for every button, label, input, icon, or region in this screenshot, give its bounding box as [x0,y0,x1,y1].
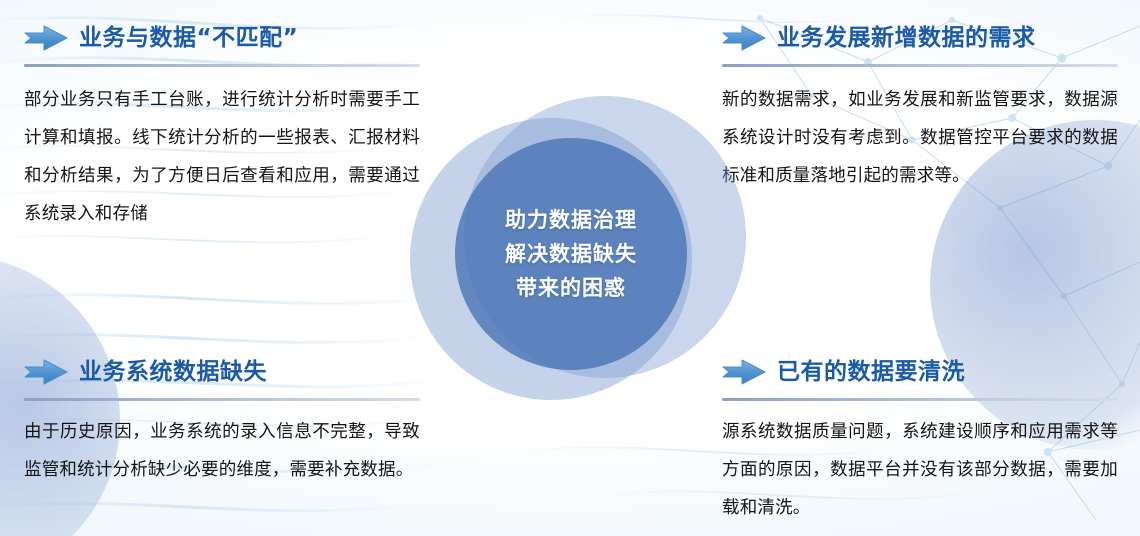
title-divider [24,398,420,401]
center-label: 助力数据治理 解决数据缺失 带来的困惑 [455,138,687,370]
content-block-bottom-left: 业务系统数据缺失 由于历史原因，业务系统的录入信息不完整，导致监管和统计分析缺少… [24,352,420,489]
center-line-1: 助力数据治理 [505,203,637,237]
block-body: 新的数据需求，如业务发展和新监管要求，数据源系统设计时没有考虑到。数据管控平台要… [722,81,1118,195]
center-graphic: 助力数据治理 解决数据缺失 带来的困惑 [410,90,730,410]
block-body: 部分业务只有手工台账，进行统计分析时需要手工计算和填报。线下统计分析的一些报表、… [24,81,420,233]
block-header: 已有的数据要清洗 [722,352,1118,392]
arrow-right-icon [24,25,68,51]
block-title: 业务发展新增数据的需求 [777,27,1036,50]
slide-canvas: 业务与数据“不匹配” 部分业务只有手工台账，进行统计分析时需要手工计算和填报。线… [0,0,1140,536]
block-title: 业务与数据“不匹配” [79,27,298,50]
title-divider [722,398,1118,401]
content-block-top-right: 业务发展新增数据的需求 新的数据需求，如业务发展和新监管要求，数据源系统设计时没… [722,18,1118,195]
arrow-right-icon [722,25,766,51]
center-line-2: 解决数据缺失 [505,237,637,271]
block-header: 业务发展新增数据的需求 [722,18,1118,58]
title-divider [722,64,1118,67]
center-line-3: 带来的困惑 [516,271,626,305]
block-header: 业务系统数据缺失 [24,352,420,392]
block-header: 业务与数据“不匹配” [24,18,420,58]
arrow-right-icon [24,359,68,385]
block-body: 源系统数据质量问题，系统建设顺序和应用需求等方面的原因，数据平台并没有该部分数据… [722,413,1118,527]
block-title: 业务系统数据缺失 [79,361,267,384]
block-title: 已有的数据要清洗 [777,361,965,384]
title-divider [24,64,420,67]
content-block-bottom-right: 已有的数据要清洗 源系统数据质量问题，系统建设顺序和应用需求等方面的原因，数据平… [722,352,1118,527]
content-block-top-left: 业务与数据“不匹配” 部分业务只有手工台账，进行统计分析时需要手工计算和填报。线… [24,18,420,233]
block-body: 由于历史原因，业务系统的录入信息不完整，导致监管和统计分析缺少必要的维度，需要补… [24,413,420,489]
